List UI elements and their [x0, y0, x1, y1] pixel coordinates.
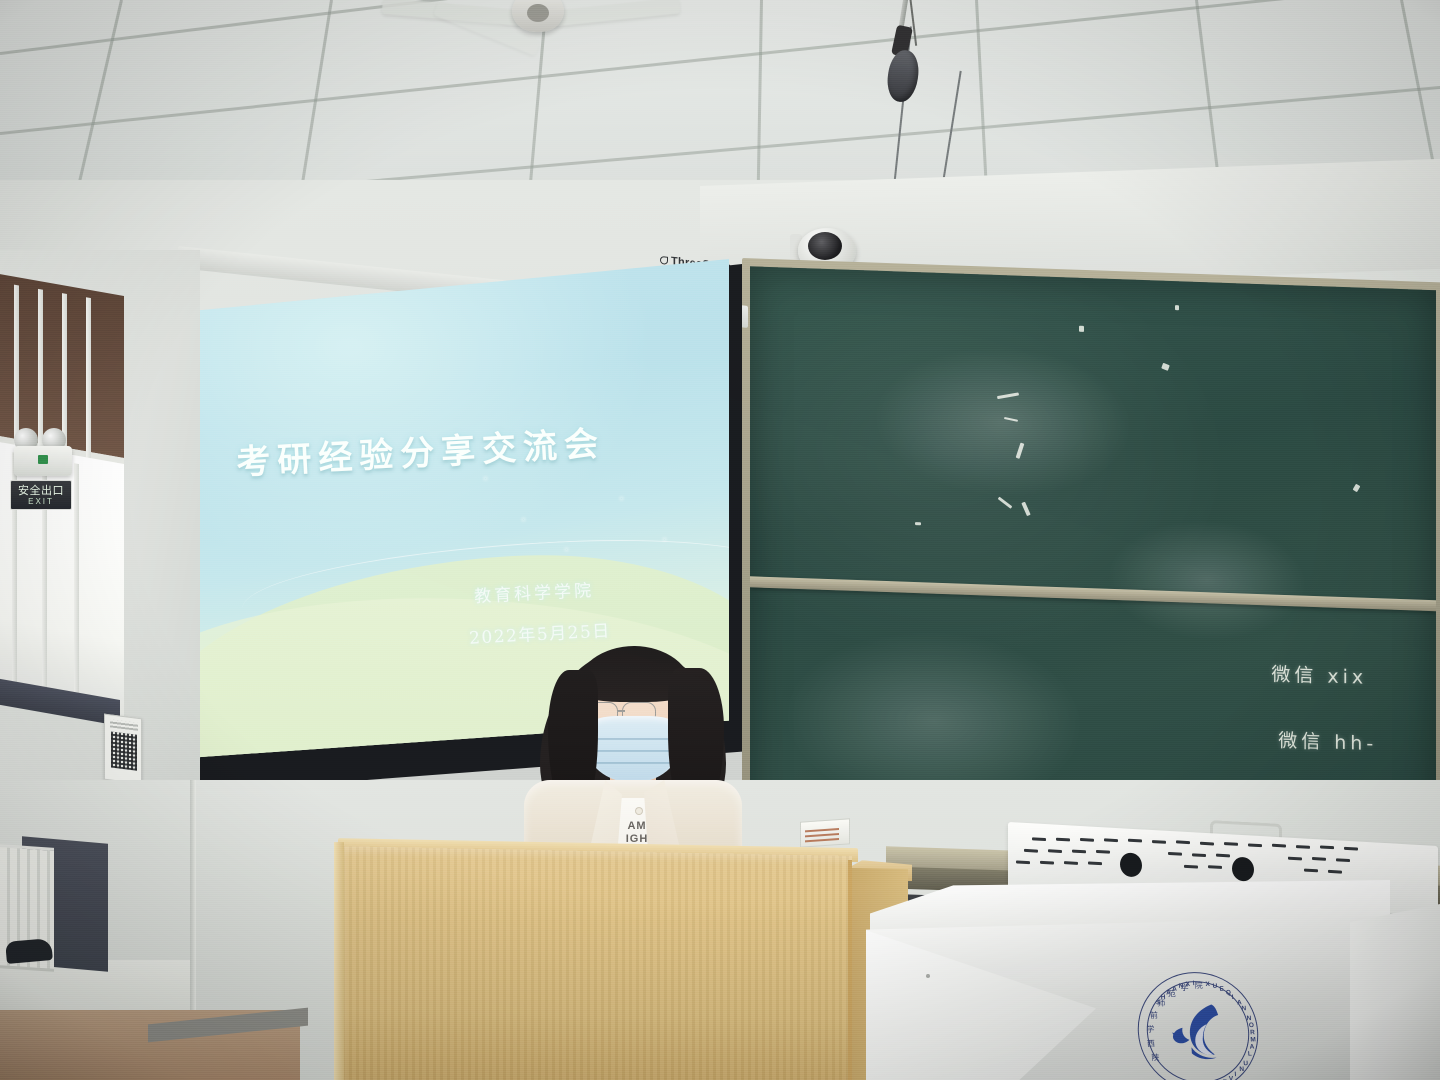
- ceiling-fan: [392, 0, 662, 56]
- exit-sign: 安全出口 EXIT: [10, 480, 72, 510]
- poster-caption-lines: [110, 719, 138, 730]
- classroom-photo: 微信 xix 微信 hh- ThreeStars 考研经验分享交流会 教育科学学…: [0, 0, 1440, 1080]
- presenter: AM IGH: [518, 630, 748, 860]
- multimedia-lectern: 陕 西 学 前 师 范 学 院 S H A A N X I X U E Q: [880, 846, 1440, 1080]
- wooden-podium: [330, 836, 890, 1080]
- status-led-indicator: [38, 455, 48, 464]
- microphone-head: [885, 48, 922, 104]
- jacket-button: [636, 808, 642, 814]
- blackboard-center-rail: [750, 576, 1436, 611]
- eyeglasses-bridge: [617, 710, 625, 712]
- wall-qr-poster: [104, 714, 142, 785]
- podium-front-panel: [342, 846, 852, 1080]
- slide-title: 考研经验分享交流会: [235, 410, 703, 483]
- shoe-on-floor: [5, 938, 53, 964]
- paper-note-on-podium: [800, 818, 850, 847]
- lectern-cable-hole: [1120, 852, 1142, 877]
- threestars-logo-icon: [660, 256, 668, 265]
- lectern-cable-hole: [1232, 857, 1254, 882]
- window-bar: [14, 285, 19, 445]
- emergency-exit-light: 安全出口 EXIT: [8, 424, 80, 524]
- podium-seam: [848, 860, 852, 1080]
- seal-english-text: S H A A N X I X U E Q I A N N O R M A L: [1134, 971, 1263, 1080]
- lectern-screw: [926, 974, 930, 978]
- exit-sign-cn: 安全出口: [18, 485, 64, 496]
- blackboard-writing-line-1: 微信 xix: [1271, 660, 1367, 690]
- fan-blade: [552, 0, 681, 27]
- hanging-microphone: [872, 0, 942, 116]
- exit-sign-en: EXIT: [28, 498, 54, 506]
- podium-left-edge: [334, 842, 344, 1080]
- window-bar: [86, 298, 91, 458]
- blackboard-writing-line-2: 微信 hh-: [1278, 726, 1377, 756]
- university-seal: 陕 西 学 前 师 范 学 院 S H A A N X I X U E Q: [1134, 971, 1263, 1080]
- qr-code-icon: [111, 732, 137, 771]
- lectern-right-face: [1350, 904, 1440, 1080]
- camera-lens: [808, 232, 842, 260]
- fan-hub-center: [527, 4, 549, 22]
